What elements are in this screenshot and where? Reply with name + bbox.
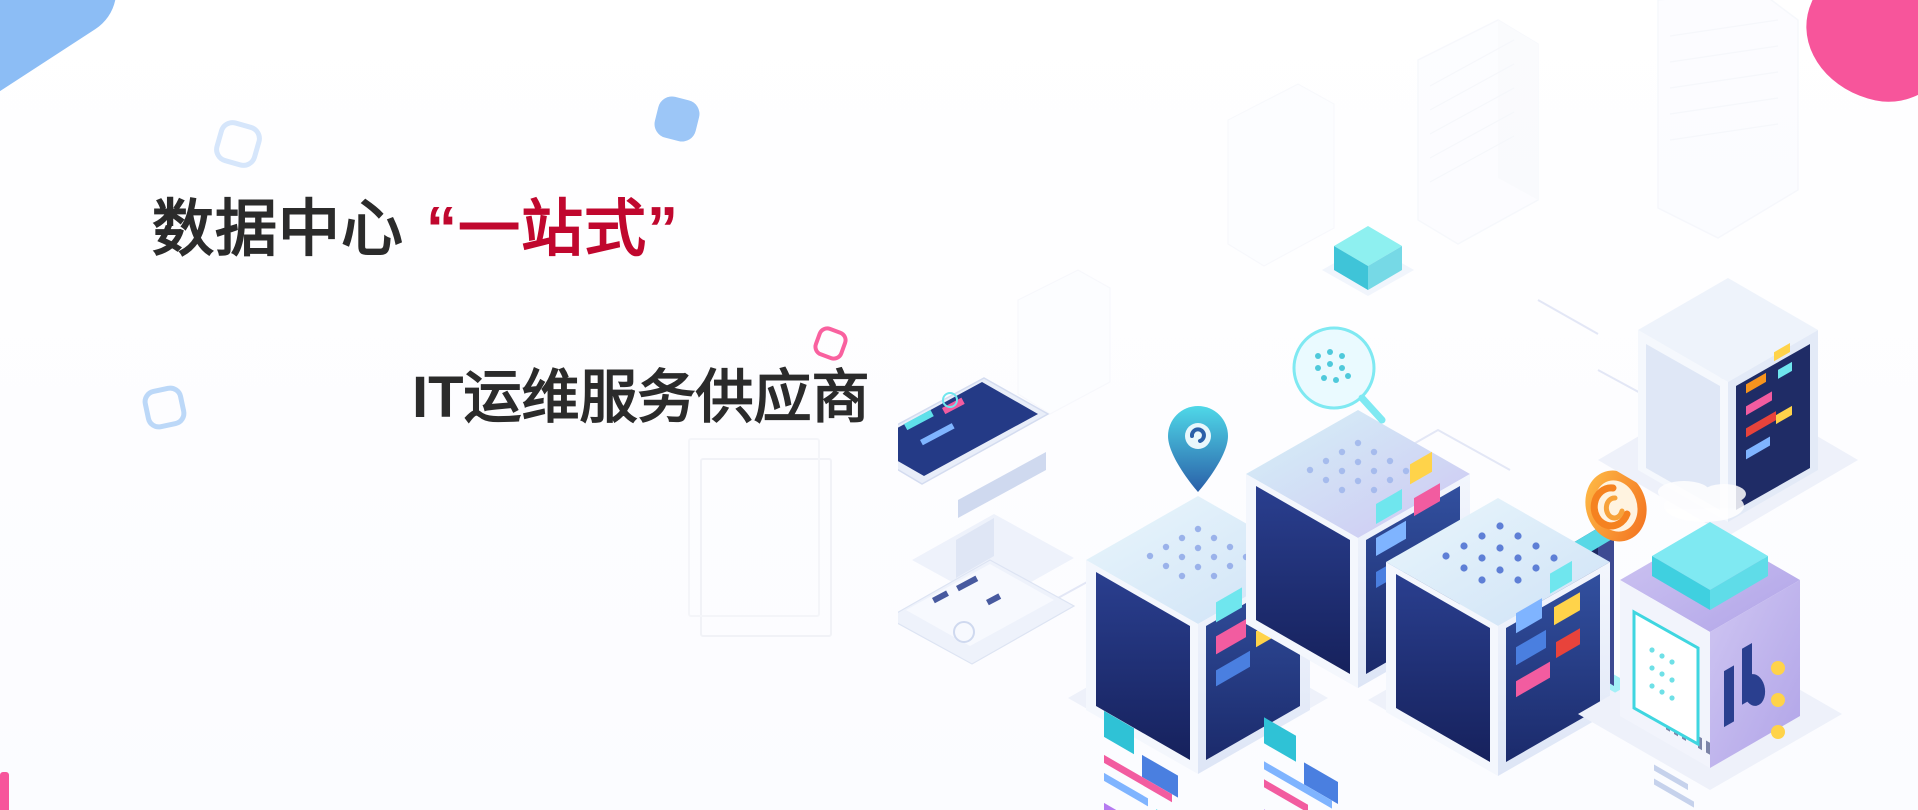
background-buildings xyxy=(1018,0,1798,414)
headline-highlight: 一站式 xyxy=(458,195,647,264)
rack-platforms xyxy=(1068,540,1628,774)
quote-open: “ xyxy=(426,195,458,264)
tower-left-panel xyxy=(1654,706,1694,807)
rack-left-panel-lights xyxy=(1104,711,1182,810)
cooling-unit xyxy=(1578,481,1842,790)
server-rack-center xyxy=(1246,410,1470,810)
decor-blob-top-right xyxy=(1793,0,1918,114)
banner-root: 数据中心“一站式” IT运维服务供应商 xyxy=(0,0,1918,810)
rack-left-panel-lights-right xyxy=(1216,550,1280,686)
server-rack-left xyxy=(1086,496,1310,810)
headline-block: 数据中心“一站式” IT运维服务供应商 xyxy=(0,0,900,810)
desktop-monitor xyxy=(898,378,1074,604)
headline-line-1: 数据中心“一站式” xyxy=(152,196,679,264)
headline-line-2: IT运维服务供应商 xyxy=(412,366,870,430)
headline-prefix: 数据中心 xyxy=(152,195,404,264)
analytics-bubble xyxy=(1294,328,1382,420)
orange-swirl-coin xyxy=(1576,462,1655,549)
illustration-isometric-data-center xyxy=(898,0,1918,810)
rack-right-panel-lights-right xyxy=(1516,561,1580,697)
tower-right-panel xyxy=(1746,343,1792,459)
connector-lines xyxy=(1018,300,1740,650)
quote-close: ” xyxy=(647,195,679,264)
rack-center-panel-lights xyxy=(1264,717,1342,810)
tablet-wifi xyxy=(1512,528,1634,724)
location-pin xyxy=(1168,406,1228,492)
rack-center-panel-lights-right xyxy=(1376,452,1440,588)
server-tower-tall xyxy=(1598,278,1858,808)
blue-cube xyxy=(1322,226,1414,296)
laptop xyxy=(898,560,1074,664)
server-rack-right xyxy=(1386,498,1610,810)
